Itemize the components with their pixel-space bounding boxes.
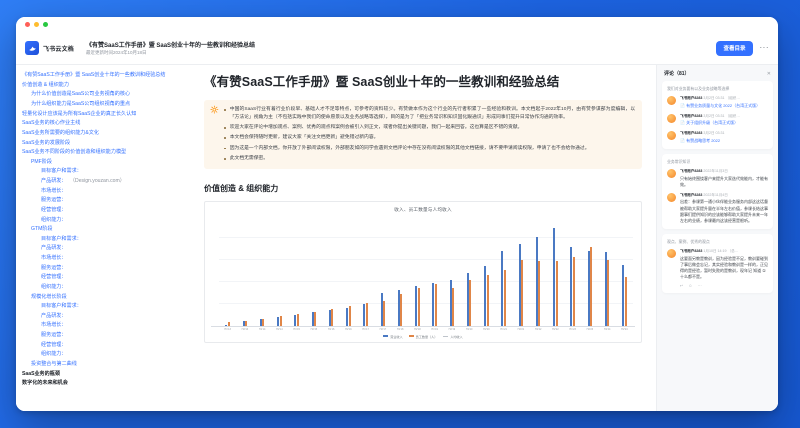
toc-item-note: （Design.youzan.com） [72, 178, 124, 184]
callout-bullet: 中国的SaaS行业有着行业价段早、基础人才不足等特点，可参考的资料较少。有赞做本… [224, 106, 635, 122]
comment-body: 飞书用户8283 3月2日 03:31 （组织…📄 关于组织升级（台湾正式版） [680, 114, 768, 127]
toc-item[interactable]: PMF阶段 [22, 158, 186, 168]
more-icon[interactable]: ⋯ [697, 283, 701, 288]
toc-item[interactable]: 经营管理： [22, 341, 186, 351]
comment-doc-link[interactable]: 📄 有赞业务质量与文化 2022（台湾正式版） [680, 103, 768, 109]
comment-timestamp: 3月2日 03:31 （组织… [702, 96, 740, 100]
chart-card: 收入、员工数量与人均收入 H1'13H2'13H1'14H2'14H1'15H2… [204, 201, 642, 343]
toc-item[interactable]: SaaS业务不同阶段的价值创造和组织能力模型 [22, 148, 186, 158]
comment-body: 飞书用户8283 2022年11月4日出差：参课第一通小伙伴能业务服务内部这这话… [680, 193, 768, 224]
comments-header: 评论（81） ✕ [662, 70, 773, 77]
chart-plot-area [211, 216, 635, 327]
comment-thread[interactable]: 飞书用户8283 3月2日 03:31 （组织…📄 关于组织升级（台湾正式版） [667, 114, 768, 127]
comment-doc-link[interactable]: 📄 有赞战略思考 2022 [680, 138, 768, 144]
toc-item[interactable]: SaaS业务的核心作业主线 [22, 119, 186, 129]
avatar [667, 193, 676, 202]
traffic-lights [25, 22, 48, 27]
comment-thread[interactable]: 飞书用户8283 2022年11月4日出差：参课第一通小伙伴能业务服务内部这这话… [667, 193, 768, 224]
toc-item[interactable]: SaaS业务所需要的组织能力&文化 [22, 129, 186, 139]
comment-group-quote: 我们对业务要有以及业务战略等选择 [667, 86, 768, 92]
callout-box: 🔆 中国的SaaS行业有着行业价段早、基础人才不足等特点，可参考的资料较少。有赞… [204, 100, 642, 169]
comment-timestamp: 1月10日 14:19 （总… [702, 249, 738, 253]
comment-body: 飞书用户8283 3月2日 03:31📄 有赞战略思考 2022 [680, 131, 768, 144]
header-doc-meta: 《有赞SaaS工作手册》暨 SaaS创业十年的一些教训和经验总结 最近更新时间2… [86, 40, 255, 56]
comments-title: 评论（81） [664, 70, 690, 77]
comment-meta: 飞书用户8283 2022年11月3日 [680, 169, 768, 174]
more-options-icon[interactable]: ··· [760, 45, 770, 51]
app-header: 飞书云文档 《有赞SaaS工作手册》暨 SaaS创业十年的一些教训和经验总结 最… [16, 32, 778, 65]
close-icon[interactable]: ✕ [767, 71, 771, 77]
toc-item[interactable]: 服务运营： [22, 331, 186, 341]
toc-item[interactable]: 市场增长： [22, 321, 186, 331]
comment-author: 飞书用户8283 [680, 249, 702, 253]
comment-author: 飞书用户8283 [680, 169, 702, 173]
callout-bullet: 本文档会保持随时更新，建议大家「关注文档更新」避免错过新内容。 [224, 134, 635, 142]
toc-item[interactable]: 为什么价值创造是SaaS公司业务视角的核心 [22, 90, 186, 100]
page-title: 《有赞SaaS工作手册》暨 SaaS创业十年的一些教训和经验总结 [204, 73, 642, 91]
avatar [667, 249, 676, 258]
toc-item[interactable]: 服务运营： [22, 264, 186, 274]
comment-meta: 飞书用户8283 3月2日 03:31 （组织… [680, 114, 768, 119]
toc-item[interactable]: 为什么组织能力是SaaS公司组织视角的重点 [22, 100, 186, 110]
toc-item[interactable]: 组织能力： [22, 215, 186, 225]
comment-group: 观点、案例、优秀的观点飞书用户8283 1月10日 14:19 （总…这要面另教… [662, 234, 773, 293]
comment-meta: 飞书用户8283 2022年11月4日 [680, 193, 768, 198]
avatar [667, 114, 676, 123]
sun-icon: 🔆 [210, 106, 219, 163]
toc-item[interactable]: 目标客户和需求： [22, 167, 186, 177]
callout-bullet: 因为这是一个内部文档，你开放了外部阅读权限，外部朋友如的同学会遇到文档评论中存在… [224, 145, 635, 153]
comment-meta: 飞书用户8283 3月2日 03:31 [680, 131, 768, 136]
comments-sidebar[interactable]: 评论（81） ✕ 我们对业务要有以及业务战略等选择飞书用户8283 3月2日 0… [656, 65, 778, 411]
comment-timestamp: 3月2日 03:31 （组织… [702, 114, 740, 118]
app-body: 《有赞SaaS工作手册》暨 SaaS创业十年的一些教训和经验总结价值创造 & 组… [16, 65, 778, 411]
emoji-icon[interactable]: ☺ [688, 283, 692, 288]
comment-body: 飞书用户8283 1月10日 14:19 （总…这要面另教是教训，因为经验是不足… [680, 249, 768, 288]
toc-item[interactable]: 投资整合与第二曲线 [22, 360, 186, 370]
outline-sidebar[interactable]: 《有赞SaaS工作手册》暨 SaaS创业十年的一些教训和经验总结价值创造 & 组… [16, 65, 194, 411]
toc-item[interactable]: SaaS业务的瓶颈 [22, 369, 186, 379]
comment-doc-link[interactable]: 📄 关于组织升级（台湾正式版） [680, 120, 768, 126]
comment-author: 飞书用户8283 [680, 96, 702, 100]
comment-text: 只有始终围绕客户来提升大家迭代效能内，才能有效。 [680, 176, 768, 188]
comment-timestamp: 2022年11月4日 [702, 193, 728, 197]
comment-timestamp: 3月2日 03:31 [702, 131, 724, 135]
avatar [667, 131, 676, 140]
toc-item[interactable]: 规模化增长阶段 [22, 292, 186, 302]
toc-item[interactable]: 数字化的未来和机会 [22, 379, 186, 389]
callout-bullet: 欢迎大家在评论中增加观点、案例、优秀的观点和案例会被引入到正文，或者你提出关键问… [224, 124, 635, 132]
toc-item[interactable]: 经营管理： [22, 273, 186, 283]
comment-thread[interactable]: 飞书用户8283 3月2日 03:31📄 有赞战略思考 2022 [667, 131, 768, 144]
toc-item[interactable]: 服务运营： [22, 196, 186, 206]
toc-item[interactable]: GTM阶段 [22, 225, 186, 235]
comment-group-quote: 观点、案例、优秀的观点 [667, 239, 768, 245]
toc-item[interactable]: 《有赞SaaS工作手册》暨 SaaS创业十年的一些教训和经验总结 [22, 71, 186, 81]
avatar [667, 96, 676, 105]
toc-item[interactable]: 目标客户和需求： [22, 302, 186, 312]
toc-item[interactable]: 产品研发： [22, 244, 186, 254]
feishu-logo-icon [25, 41, 39, 55]
zoom-window-button[interactable] [43, 22, 48, 27]
comment-author: 飞书用户8283 [680, 193, 702, 197]
document-content: 《有赞SaaS工作手册》暨 SaaS创业十年的一些教训和经验总结 🔆 中国的Sa… [194, 65, 656, 411]
comment-author: 飞书用户8283 [680, 131, 702, 135]
comment-meta: 飞书用户8283 3月2日 03:31 （组织… [680, 96, 768, 101]
comment-group: 我们对业务要有以及业务战略等选择飞书用户8283 3月2日 03:31 （组织…… [662, 81, 773, 149]
toc-item[interactable]: 轻量化设计应该是为所有SaaS企业的真正长久认知 [22, 110, 186, 120]
toc-item[interactable]: 组织能力： [22, 350, 186, 360]
comment-timestamp: 2022年11月3日 [702, 169, 728, 173]
comment-meta: 飞书用户8283 1月10日 14:19 （总… [680, 249, 768, 254]
comment-text: 这要面另教是教训，因为经验是不足，教训要碰到了事后做会忘记，其实经验和教训是一样… [680, 256, 768, 281]
avatar [667, 169, 676, 178]
comment-thread[interactable]: 飞书用户8283 3月2日 03:31 （组织…📄 有赞业务质量与文化 2022… [667, 96, 768, 109]
comment-thread[interactable]: 飞书用户8283 1月10日 14:19 （总…这要面另教是教训，因为经验是不足… [667, 249, 768, 288]
comment-thread[interactable]: 飞书用户8283 2022年11月3日只有始终围绕客户来提升大家迭代效能内，才能… [667, 169, 768, 188]
toc-item[interactable]: 目标客户和需求： [22, 235, 186, 245]
toc-item[interactable]: SaaS业务的发展阶段 [22, 138, 186, 148]
toc-item[interactable]: 价值创造 & 组织能力 [22, 81, 186, 91]
comment-author: 飞书用户8283 [680, 114, 702, 118]
reply-icon[interactable]: ↩ [680, 283, 683, 288]
comment-group-quote: 业务常识知识 [667, 159, 768, 165]
comment-group: 业务常识知识飞书用户8283 2022年11月3日只有始终围绕客户来提升大家迭代… [662, 154, 773, 229]
window-titlebar [16, 17, 778, 32]
header-doc-subtitle: 最近更新时间2024年10月18日 [86, 50, 255, 56]
toc-item[interactable]: 市场增长： [22, 254, 186, 264]
app-window: 飞书云文档 《有赞SaaS工作手册》暨 SaaS创业十年的一些教训和经验总结 最… [16, 17, 778, 411]
toc-item[interactable]: 经营管理： [22, 206, 186, 216]
toc-item[interactable]: 产品研发：（Design.youzan.com） [22, 177, 186, 187]
app-logo-label: 飞书云文档 [43, 44, 74, 53]
section-heading: 价值创造 & 组织能力 [204, 183, 642, 194]
toc-item[interactable]: 产品研发： [22, 312, 186, 322]
close-window-button[interactable] [25, 22, 30, 27]
header-doc-title: 《有赞SaaS工作手册》暨 SaaS创业十年的一些教训和经验总结 [86, 40, 255, 49]
minimize-window-button[interactable] [34, 22, 39, 27]
view-outline-button[interactable]: 查看目录 [716, 41, 752, 56]
comment-body: 飞书用户8283 2022年11月3日只有始终围绕客户来提升大家迭代效能内，才能… [680, 169, 768, 188]
chart-line-series [219, 216, 633, 411]
comment-groups: 我们对业务要有以及业务战略等选择飞书用户8283 3月2日 03:31 （组织…… [662, 81, 773, 293]
chart-title: 收入、员工数量与人均收入 [211, 207, 635, 213]
callout-bullet: 此文档无需保密。 [224, 155, 635, 163]
app-logo[interactable]: 飞书云文档 [25, 41, 74, 55]
comment-text: 出差：参课第一通小伙伴能业务服务内部这这话督被帮助大家提升量在半年左右价值，参课… [680, 199, 768, 224]
header-actions: 查看目录 ··· [716, 41, 769, 56]
toc-item[interactable]: 组织能力： [22, 283, 186, 293]
comment-body: 飞书用户8283 3月2日 03:31 （组织…📄 有赞业务质量与文化 2022… [680, 96, 768, 109]
callout-bullet-list: 中国的SaaS行业有着行业价段早、基础人才不足等特点，可参考的资料较少。有赞做本… [224, 106, 635, 163]
comment-reaction-row: ↩☺⋯ [680, 283, 768, 288]
toc-item[interactable]: 市场增长： [22, 187, 186, 197]
